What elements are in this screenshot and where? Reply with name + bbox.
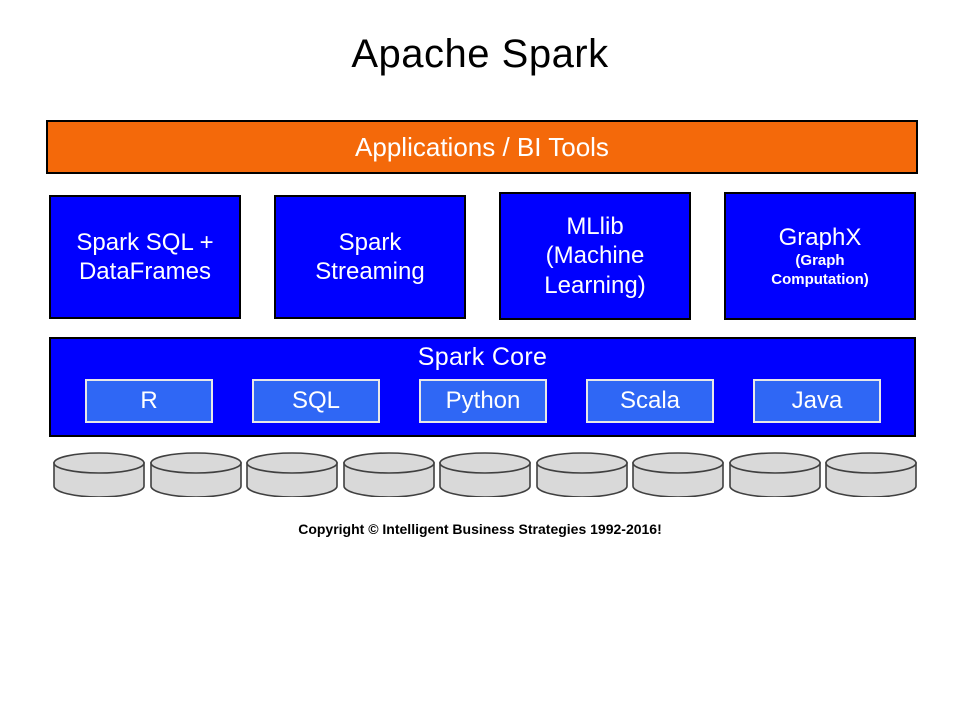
module-mllib-line1: MLlib bbox=[566, 212, 623, 241]
module-mllib-line3: Learning) bbox=[544, 271, 645, 300]
language-box-java[interactable]: Java bbox=[753, 379, 881, 423]
language-box-python[interactable]: Python bbox=[419, 379, 547, 423]
database-cylinder-icon bbox=[824, 452, 918, 497]
copyright-notice: Copyright © Intelligent Business Strateg… bbox=[0, 521, 960, 537]
database-cylinder-icon bbox=[728, 452, 822, 497]
database-cylinder-icon bbox=[535, 452, 629, 497]
module-spark-streaming-line1: Spark bbox=[339, 228, 402, 257]
database-cylinder-icon bbox=[149, 452, 243, 497]
spark-core-language-row: R SQL Python Scala Java bbox=[51, 379, 914, 423]
module-mllib[interactable]: MLlib (Machine Learning) bbox=[499, 192, 691, 320]
language-box-scala[interactable]: Scala bbox=[586, 379, 714, 423]
slide-canvas: Apache Spark Applications / BI Tools Spa… bbox=[0, 0, 960, 720]
database-cylinder-icon bbox=[342, 452, 436, 497]
language-label-r: R bbox=[140, 387, 157, 415]
module-graphx-sub2: Computation) bbox=[771, 271, 868, 290]
applications-bi-tools-banner[interactable]: Applications / BI Tools bbox=[46, 120, 918, 174]
database-cylinder-icon bbox=[245, 452, 339, 497]
module-spark-streaming[interactable]: Spark Streaming bbox=[274, 195, 466, 319]
module-graphx-line1: GraphX bbox=[779, 223, 862, 252]
module-spark-sql[interactable]: Spark SQL + DataFrames bbox=[49, 195, 241, 319]
language-label-scala: Scala bbox=[620, 387, 680, 415]
storage-cylinder-row bbox=[0, 452, 960, 500]
language-box-sql[interactable]: SQL bbox=[252, 379, 380, 423]
module-spark-sql-line2: DataFrames bbox=[79, 257, 211, 286]
language-label-python: Python bbox=[446, 387, 521, 415]
language-label-java: Java bbox=[792, 387, 843, 415]
database-cylinder-icon bbox=[438, 452, 532, 497]
spark-core-title: Spark Core bbox=[51, 343, 914, 372]
module-mllib-line2: (Machine bbox=[546, 241, 645, 270]
module-spark-sql-line1: Spark SQL + bbox=[76, 228, 213, 257]
page-title: Apache Spark bbox=[0, 32, 960, 76]
module-spark-streaming-line2: Streaming bbox=[315, 257, 424, 286]
applications-banner-label: Applications / BI Tools bbox=[355, 132, 609, 163]
database-cylinder-icon bbox=[52, 452, 146, 497]
spark-core-panel[interactable]: Spark Core R SQL Python Scala Java bbox=[49, 337, 916, 437]
database-cylinder-icon bbox=[631, 452, 725, 497]
language-label-sql: SQL bbox=[292, 387, 340, 415]
module-graphx[interactable]: GraphX (Graph Computation) bbox=[724, 192, 916, 320]
module-graphx-sub1: (Graph bbox=[795, 252, 844, 271]
language-box-r[interactable]: R bbox=[85, 379, 213, 423]
